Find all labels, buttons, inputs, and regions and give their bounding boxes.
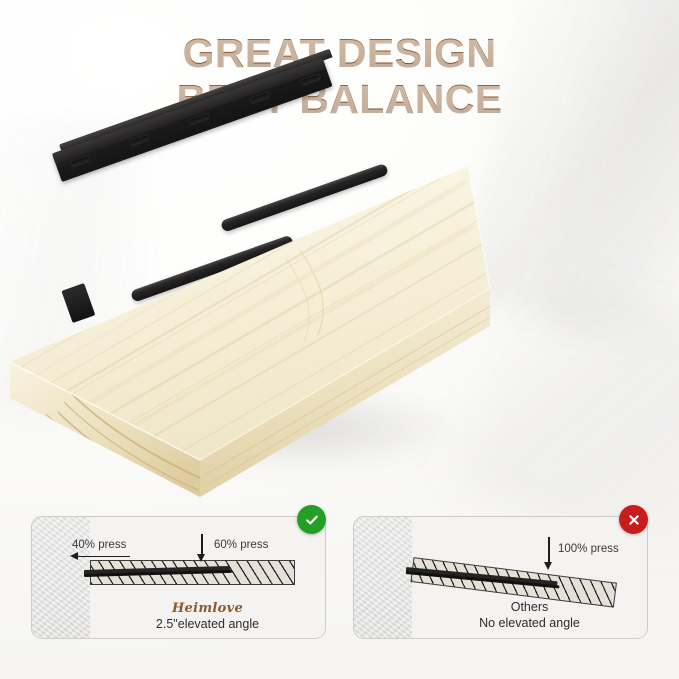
- panel-caption-angle: 2.5"elevated angle: [90, 617, 325, 631]
- comparison-section: 40% press 60% press Heimlove 2.5"elevate…: [0, 505, 679, 655]
- product-infographic: GREAT DESIGN BEST BALANCE: [0, 0, 679, 679]
- product-photo: [0, 130, 679, 500]
- headline-line-1: GREAT DESIGN: [0, 33, 679, 75]
- panel-caption-no-angle: No elevated angle: [412, 616, 647, 632]
- comparison-panel-heimlove: 40% press 60% press Heimlove 2.5"elevate…: [31, 516, 326, 639]
- arrow-left-line: [78, 556, 130, 558]
- panel-caption-others: Others: [412, 600, 647, 616]
- headline: GREAT DESIGN BEST BALANCE: [0, 33, 679, 121]
- cross-glyph: [626, 512, 642, 528]
- label-40-percent-press: 40% press: [72, 539, 126, 551]
- arrow-down-head: [197, 554, 205, 562]
- panel-caption-brand: Heimlove: [90, 599, 325, 617]
- wood-shelf-board: [0, 130, 679, 500]
- arrow-left-head: [70, 552, 78, 560]
- wall-block: [354, 517, 412, 638]
- check-glyph: [304, 512, 320, 528]
- arrow-down-head: [544, 562, 552, 570]
- label-100-percent-press: 100% press: [558, 543, 619, 555]
- wall-block: [32, 517, 90, 638]
- board-svg: [0, 130, 679, 500]
- brand-wordmark: Heimlove: [172, 601, 243, 616]
- comparison-panel-others: 100% press Others No elevated angle: [353, 516, 648, 639]
- check-icon: [297, 505, 326, 534]
- arrow-down-line: [201, 534, 203, 555]
- cross-icon: [619, 505, 648, 534]
- arrow-down-line: [548, 537, 550, 563]
- label-60-percent-press: 60% press: [214, 539, 268, 551]
- headline-line-2: BEST BALANCE: [0, 79, 679, 121]
